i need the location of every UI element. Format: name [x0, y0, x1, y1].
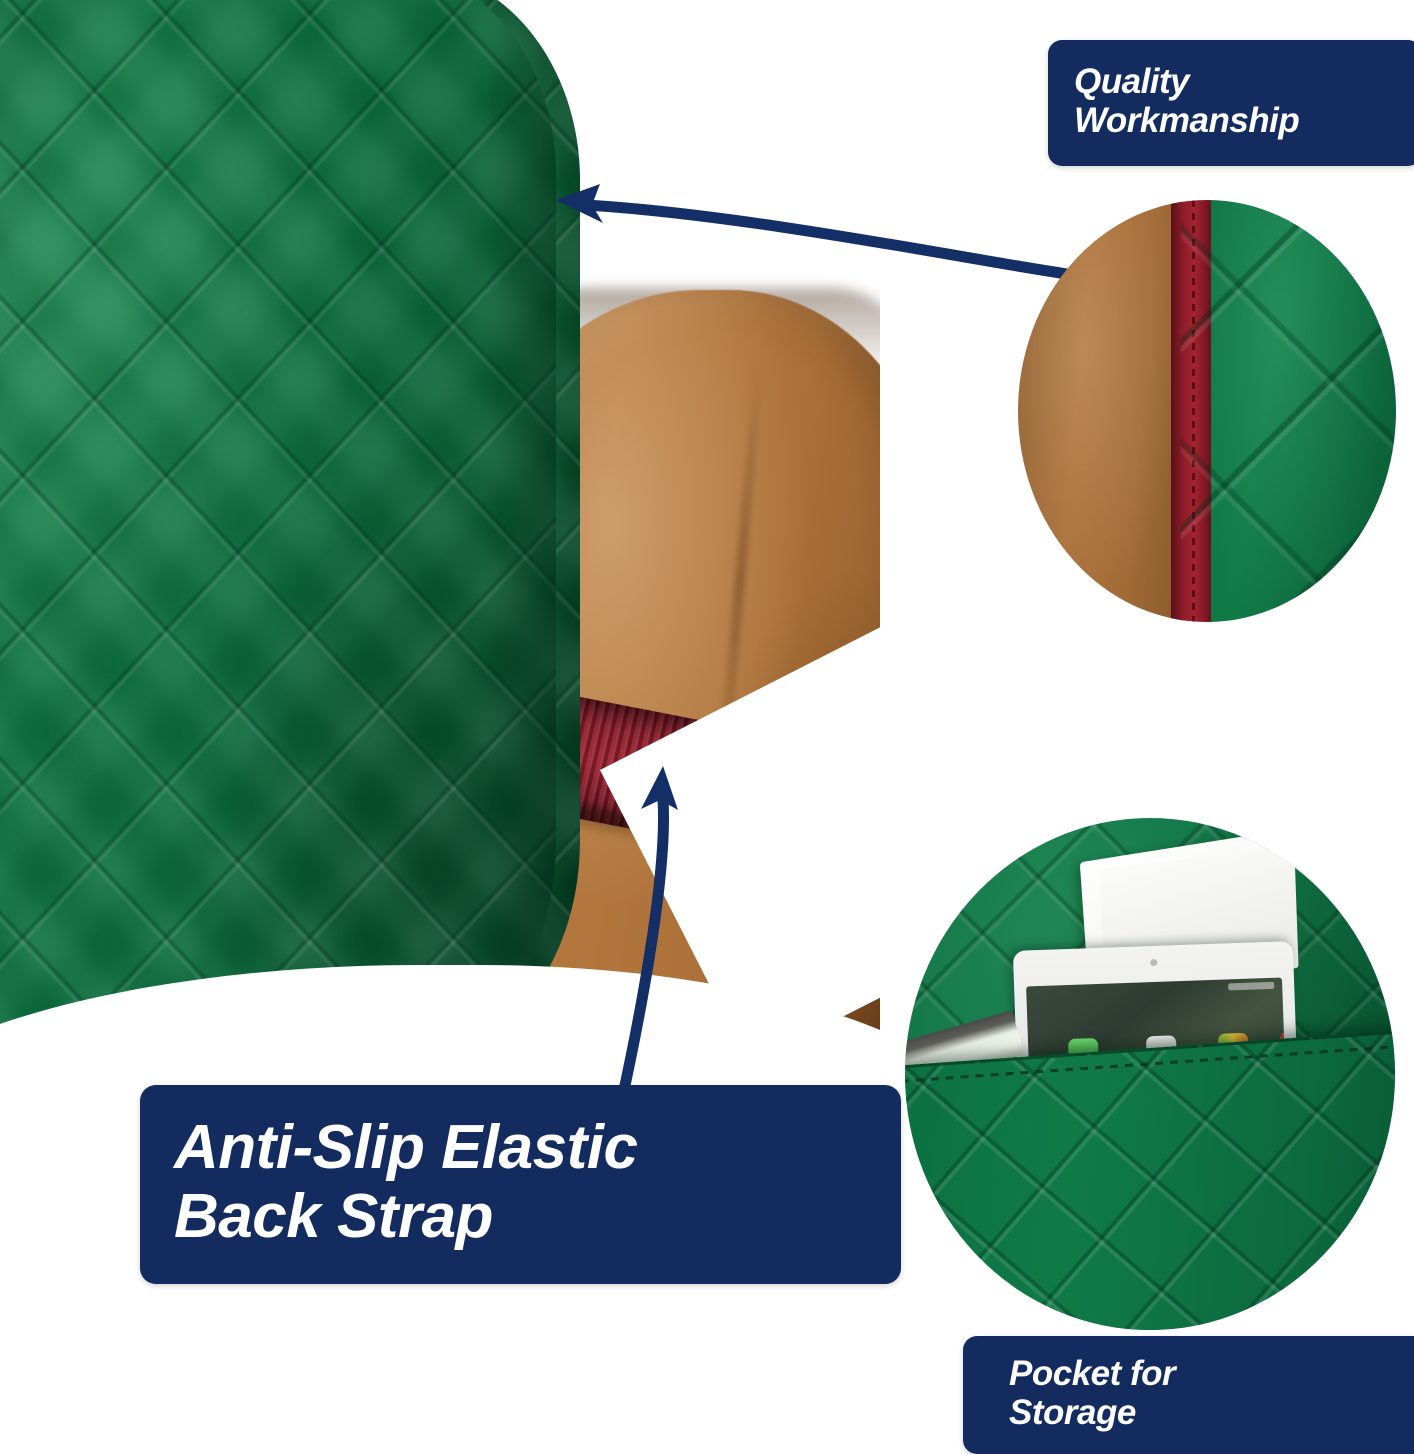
callout-pocket-line-2: Storage: [1009, 1393, 1414, 1432]
inset-stitch-detail: [1018, 200, 1396, 622]
callout-strap-line-1: Anti-Slip Elastic: [174, 1113, 869, 1182]
callout-pocket-for-storage: Pocket for Storage: [963, 1336, 1414, 1454]
callout-quality-workmanship: Quality Workmanship: [1048, 40, 1414, 166]
quilt-stitch-grid-front: [0, 0, 556, 1048]
callout-quality-line-2: Workmanship: [1074, 101, 1396, 140]
infographic-canvas: Quality Workmanship Anti-Slip Elastic Ba…: [0, 0, 1414, 1445]
tablet-statusbar: [1228, 982, 1274, 991]
inset-quilted-region: [1211, 200, 1396, 622]
inset-quilt-stitch-b: [1181, 200, 1396, 622]
quilted-cover-front: [0, 0, 556, 1048]
main-product-photo: [0, 0, 930, 1070]
callout-anti-slip-elastic-back-strap: Anti-Slip Elastic Back Strap: [140, 1085, 901, 1284]
inset-pocket-detail: [905, 818, 1395, 1330]
tablet-camera-icon: [1150, 959, 1157, 966]
callout-pocket-line-1: Pocket for: [1009, 1354, 1414, 1393]
inset-leather-region: [1018, 200, 1184, 622]
callout-strap-line-2: Back Strap: [174, 1182, 869, 1251]
cover-edge-shadow: [486, 0, 556, 1048]
callout-quality-line-1: Quality: [1074, 62, 1396, 101]
